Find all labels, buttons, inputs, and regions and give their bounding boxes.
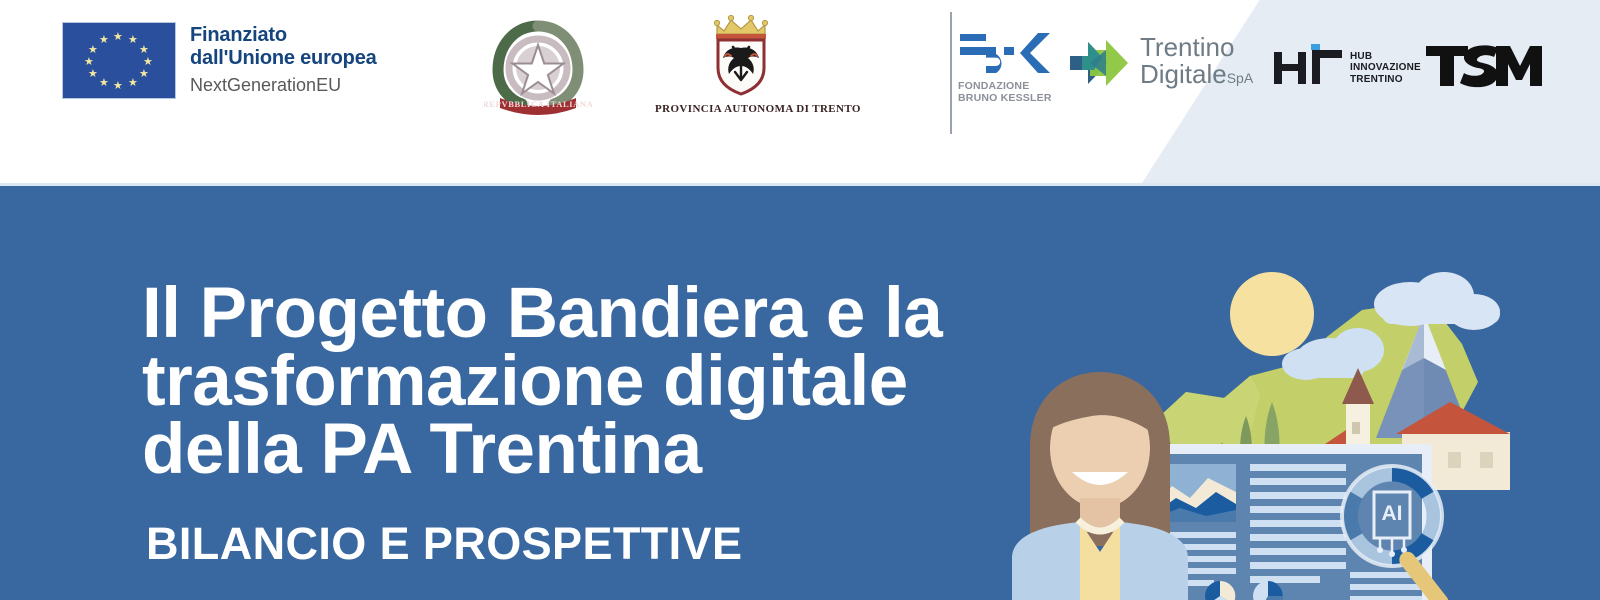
eu-star: ★: [113, 33, 122, 42]
eu-star: ★: [139, 70, 148, 79]
illustration-svg: AI: [1010, 186, 1600, 600]
monitor-text-lines: [1250, 464, 1346, 583]
eu-funding-text: Finanziato dall'Unione europea NextGener…: [190, 22, 377, 97]
provincia-autonoma-trento-logo: PROVINCIA AUTONOMA DI TRENTO: [655, 12, 827, 115]
hit-mark-icon: [1272, 44, 1346, 86]
repubblica-italiana-logo: REPVBBLICA ITALIANA: [478, 18, 598, 118]
fbk-caption-line-2: BRUNO KESSLER: [958, 92, 1058, 104]
cloud-icon: [1374, 272, 1500, 330]
repubblica-italiana-emblem: REPVBBLICA ITALIANA: [484, 18, 592, 118]
fbk-caption: FONDAZIONE BRUNO KESSLER: [958, 80, 1058, 104]
page-title-line-1: Il Progetto Bandiera e la: [142, 280, 1122, 348]
woman-avatar: [1012, 372, 1188, 600]
repubblica-ribbon-text: REPVBBLICA ITALIANA: [484, 99, 592, 109]
svg-text:AI: AI: [1382, 502, 1403, 525]
event-banner: ★ ★ ★ ★ ★ ★ ★ ★ ★ ★ ★ ★ Finanziato dall'…: [0, 0, 1600, 600]
eu-star: ★: [113, 82, 122, 91]
provincia-autonoma-trento-crest: [693, 12, 789, 96]
pa-digital-transformation-illustration: AI: [1010, 186, 1600, 600]
fbk-logo: FONDAZIONE BRUNO KESSLER: [958, 30, 1058, 104]
eu-star: ★: [143, 58, 152, 67]
trentino-digitale-logo: Trentino DigitaleSpA: [1068, 34, 1253, 92]
hit-caption-line-3: TRENTINO: [1350, 74, 1421, 86]
fbk-caption-line-1: FONDAZIONE: [958, 80, 1058, 92]
trentino-digitale-line-2: DigitaleSpA: [1140, 61, 1253, 92]
fbk-mark-icon: [958, 30, 1050, 76]
hero-banner: Il Progetto Bandiera e la trasformazione…: [0, 186, 1600, 600]
eu-flag: ★ ★ ★ ★ ★ ★ ★ ★ ★ ★ ★ ★: [62, 22, 176, 99]
eu-star: ★: [139, 46, 148, 55]
hit-logo: HUB INNOVAZIONE TRENTINO: [1272, 44, 1421, 86]
hit-caption: HUB INNOVAZIONE TRENTINO: [1350, 45, 1421, 86]
provincia-caption: PROVINCIA AUTONOMA DI TRENTO: [655, 103, 827, 115]
hit-caption-line-2: INNOVAZIONE: [1350, 62, 1421, 74]
sponsor-logo-header: ★ ★ ★ ★ ★ ★ ★ ★ ★ ★ ★ ★ Finanziato dall'…: [0, 0, 1600, 186]
eu-star: ★: [84, 58, 93, 67]
page-title: Il Progetto Bandiera e la trasformazione…: [142, 280, 1122, 484]
page-title-line-2: trasformazione digitale: [142, 348, 1122, 416]
eu-star: ★: [88, 46, 97, 55]
tsm-logo: [1424, 44, 1542, 88]
eu-star: ★: [128, 79, 137, 88]
header-diagonal-wedge: [1140, 0, 1600, 186]
eu-funding-logo: ★ ★ ★ ★ ★ ★ ★ ★ ★ ★ ★ ★ Finanziato dall'…: [62, 22, 377, 99]
tsm-mark-icon: [1424, 44, 1542, 88]
eu-nextgeneration-label: NextGenerationEU: [190, 73, 377, 97]
eu-star: ★: [99, 36, 108, 45]
eu-star: ★: [128, 36, 137, 45]
sun-icon: [1230, 272, 1314, 356]
eu-funding-line-2: dall'Unione europea: [190, 47, 377, 70]
page-title-line-3: della PA Trentina: [142, 416, 1122, 484]
trentino-digitale-line-1: Trentino: [1140, 34, 1253, 61]
hit-caption-line-1: HUB: [1350, 51, 1421, 63]
trentino-digitale-text: Trentino DigitaleSpA: [1140, 34, 1253, 92]
page-subtitle: BILANCIO E PROSPETTIVE: [146, 518, 742, 570]
trentino-digitale-suffix: SpA: [1227, 70, 1253, 86]
eu-star: ★: [99, 79, 108, 88]
eu-funding-line-1: Finanziato: [190, 24, 377, 47]
trentino-digitale-line-2-text: Digitale: [1140, 59, 1227, 89]
eu-star: ★: [88, 70, 97, 79]
header-divider: [950, 12, 952, 134]
trentino-digitale-arrow-logo: [1068, 36, 1132, 90]
